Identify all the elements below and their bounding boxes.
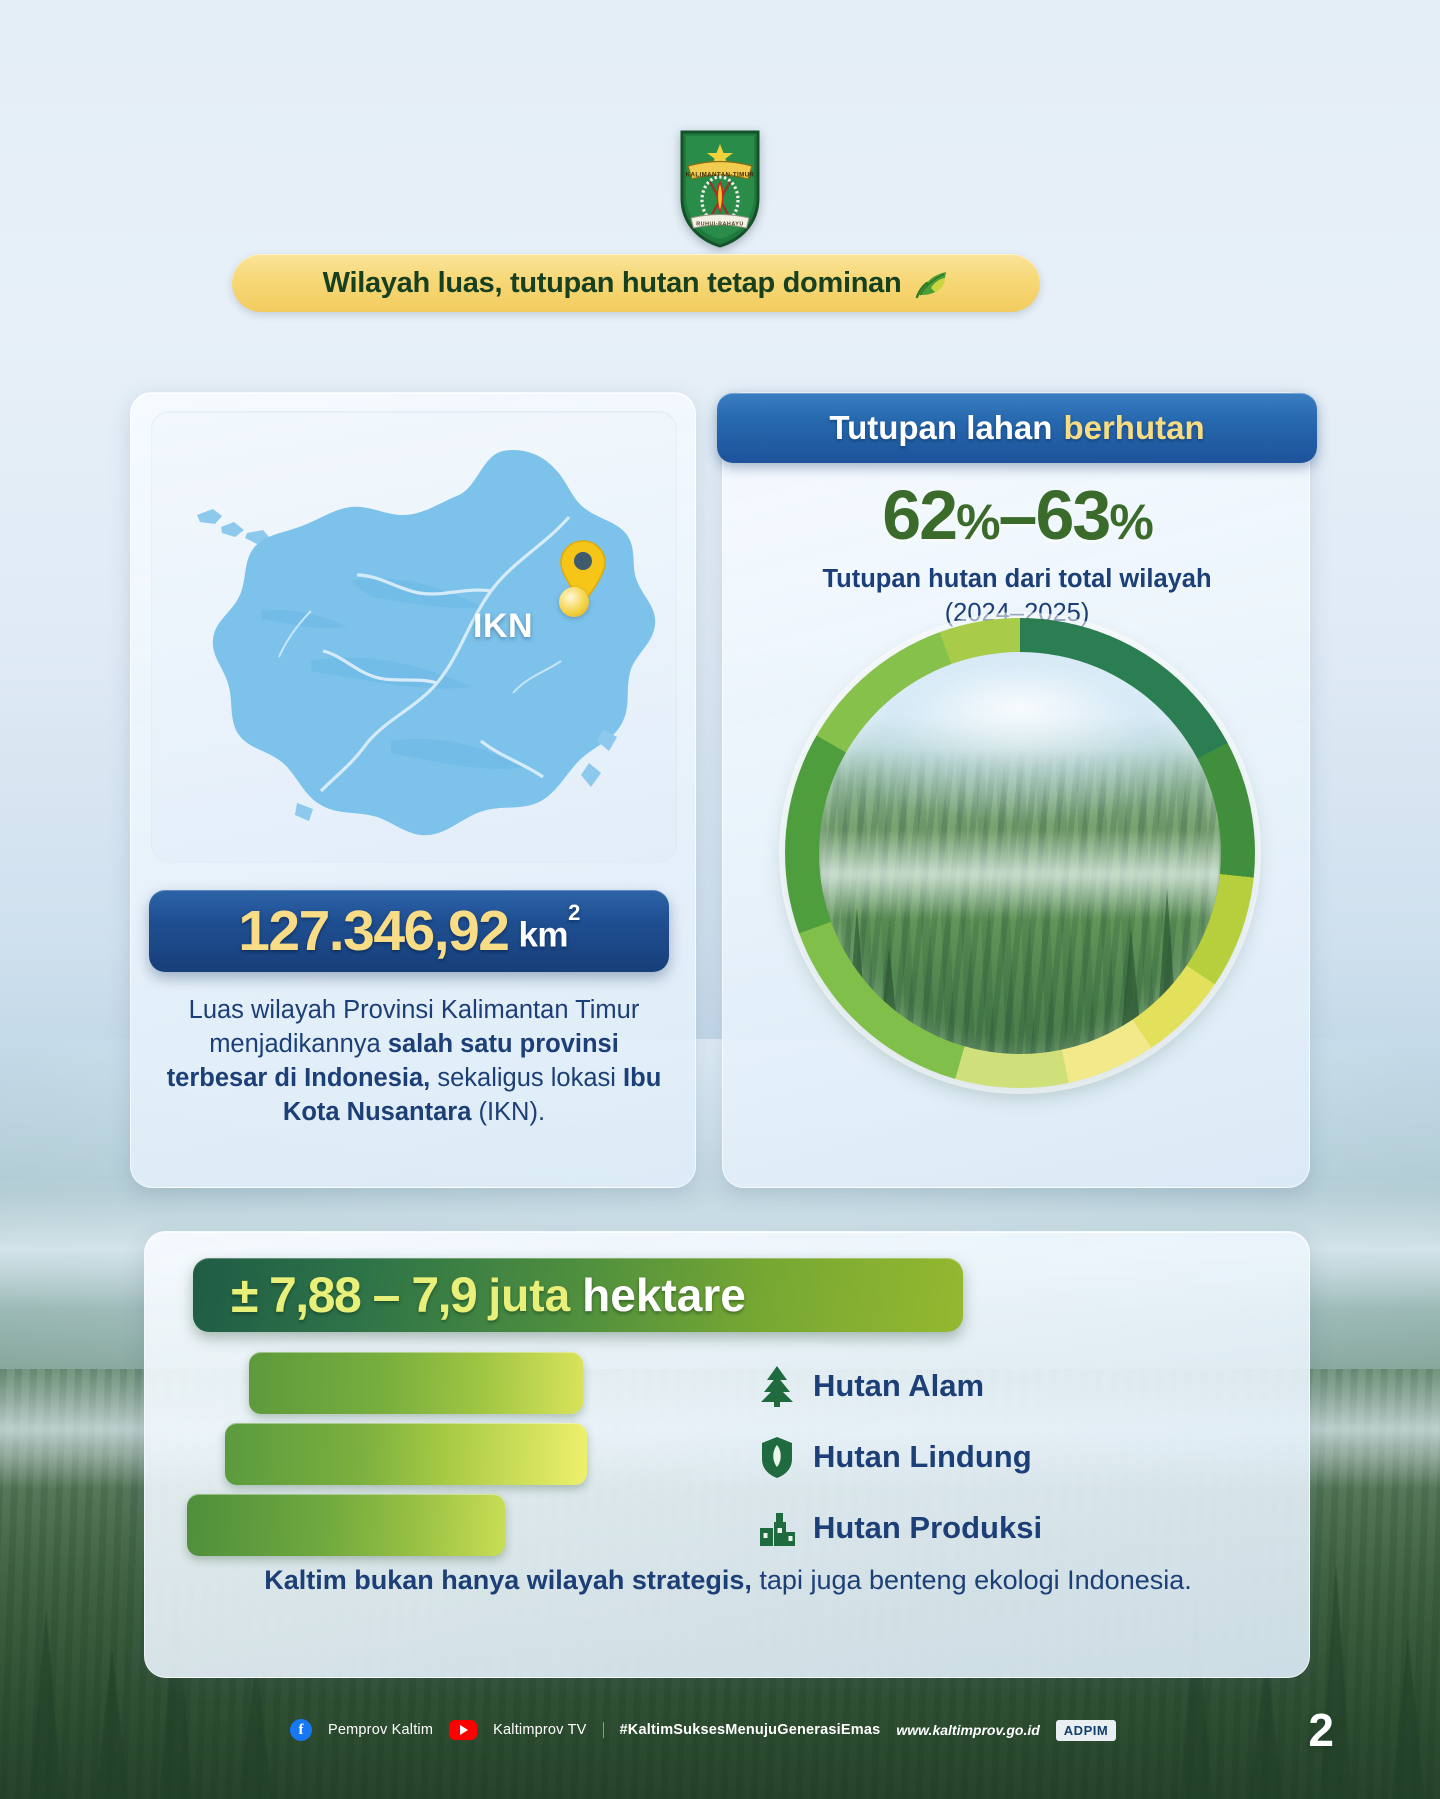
percent-symbol-2: % xyxy=(1109,494,1151,550)
svg-text:RUHUI·RAHAYU: RUHUI·RAHAYU xyxy=(696,222,743,228)
percent-dash: – xyxy=(999,476,1036,554)
area-value: 127.346,92 xyxy=(238,898,508,964)
legend-item-hutan-lindung[interactable]: Hutan Lindung xyxy=(757,1421,1217,1492)
forest-type-bars xyxy=(187,1352,747,1565)
borneo-map-panel[interactable]: IKN xyxy=(151,411,677,863)
area-badge: 127.346,92 km2 xyxy=(149,890,669,972)
footer-hashtag: #KaltimSuksesMenujuGenerasiEmas xyxy=(620,1722,881,1738)
page-number: 2 xyxy=(1308,1703,1334,1757)
donut-forest-photo xyxy=(819,652,1221,1054)
bar-hutan-produksi xyxy=(187,1494,505,1556)
closing-statement: Kaltim bukan hanya wilayah strategis, ta… xyxy=(205,1562,1251,1598)
legend-item-hutan-produksi[interactable]: Hutan Produksi xyxy=(757,1492,1217,1563)
forest-cover-header-yellow: berhutan xyxy=(1063,409,1204,447)
footer-links: f Pemprov Kaltim Kaltimprov TV #KaltimSu… xyxy=(290,1719,1116,1741)
hectare-plusminus: ± xyxy=(231,1266,257,1324)
forest-cover-percent: 62%–63% xyxy=(723,475,1311,555)
forest-cover-card: Tutupan lahan berhutan 62%–63% Tutupan h… xyxy=(722,392,1310,1188)
footer-org-badge: ADPIM xyxy=(1056,1720,1116,1741)
factory-icon xyxy=(757,1506,797,1550)
legend-label-hutan-lindung: Hutan Lindung xyxy=(813,1439,1032,1475)
percent-symbol-1: % xyxy=(956,494,998,550)
bar-hutan-alam xyxy=(249,1352,583,1414)
forest-cover-donut-chart xyxy=(785,618,1255,1088)
percent-high: 63 xyxy=(1035,476,1109,554)
pine-tree-icon xyxy=(757,1364,797,1408)
desc-part-3: (IKN). xyxy=(471,1098,545,1126)
closing-statement-bold: Kaltim bukan hanya wilayah strategis, xyxy=(264,1565,752,1595)
area-unit: km2 xyxy=(518,914,579,956)
facebook-icon[interactable]: f xyxy=(290,1719,312,1741)
hectare-value: 7,88 – 7,9 xyxy=(269,1266,476,1324)
infographic-page: KALIMANTAN·TIMUR RUHUI·RAHAYU Wilayah lu… xyxy=(0,0,1440,1799)
percent-low: 62 xyxy=(882,476,956,554)
page-footer: f Pemprov Kaltim Kaltimprov TV #KaltimSu… xyxy=(0,1681,1440,1799)
page-title-banner: Wilayah luas, tutupan hutan tetap domina… xyxy=(232,254,1040,312)
forest-cover-header-white: Tutupan lahan xyxy=(829,409,1052,447)
borneo-map xyxy=(151,411,677,863)
ikn-label: IKN xyxy=(473,607,533,646)
facebook-label[interactable]: Pemprov Kaltim xyxy=(328,1722,433,1738)
forest-type-legend: Hutan Alam Hutan Lindung xyxy=(757,1350,1217,1563)
herb-leaf-icon xyxy=(915,266,949,300)
footer-divider xyxy=(603,1722,604,1738)
provincial-emblem: KALIMANTAN·TIMUR RUHUI·RAHAYU xyxy=(674,126,766,248)
forest-cover-header: Tutupan lahan berhutan xyxy=(717,393,1317,463)
youtube-icon[interactable] xyxy=(449,1720,477,1740)
kalimantan-timur-emblem-icon: KALIMANTAN·TIMUR RUHUI·RAHAYU xyxy=(674,126,766,248)
area-description: Luas wilayah Provinsi Kalimantan Timur m… xyxy=(161,993,667,1130)
hectare-banner: ± 7,88 – 7,9 juta hektare xyxy=(193,1258,963,1332)
page-title: Wilayah luas, tutupan hutan tetap domina… xyxy=(323,267,902,300)
forest-cover-subtitle: Tutupan hutan dari total wilayah xyxy=(723,565,1311,594)
shield-leaf-icon xyxy=(757,1435,797,1479)
ikn-marker-dot xyxy=(559,587,589,617)
closing-statement-rest: tapi juga benteng ekologi Indonesia. xyxy=(752,1565,1192,1595)
footer-website[interactable]: www.kaltimprov.go.id xyxy=(896,1722,1039,1738)
legend-label-hutan-produksi: Hutan Produksi xyxy=(813,1510,1042,1546)
hectare-unit: hektare xyxy=(582,1268,746,1322)
hectare-juta: juta xyxy=(488,1268,570,1322)
desc-part-2: sekaligus lokasi xyxy=(430,1064,623,1092)
youtube-label[interactable]: Kaltimprov TV xyxy=(493,1722,586,1738)
legend-label-hutan-alam: Hutan Alam xyxy=(813,1368,984,1404)
area-card: IKN 127.346,92 km2 Luas wilayah Provinsi… xyxy=(130,392,696,1188)
bar-hutan-lindung xyxy=(225,1423,587,1485)
legend-item-hutan-alam[interactable]: Hutan Alam xyxy=(757,1350,1217,1421)
area-unit-exponent: 2 xyxy=(568,900,580,925)
forest-type-card: ± 7,88 – 7,9 juta hektare Hutan xyxy=(144,1231,1310,1678)
